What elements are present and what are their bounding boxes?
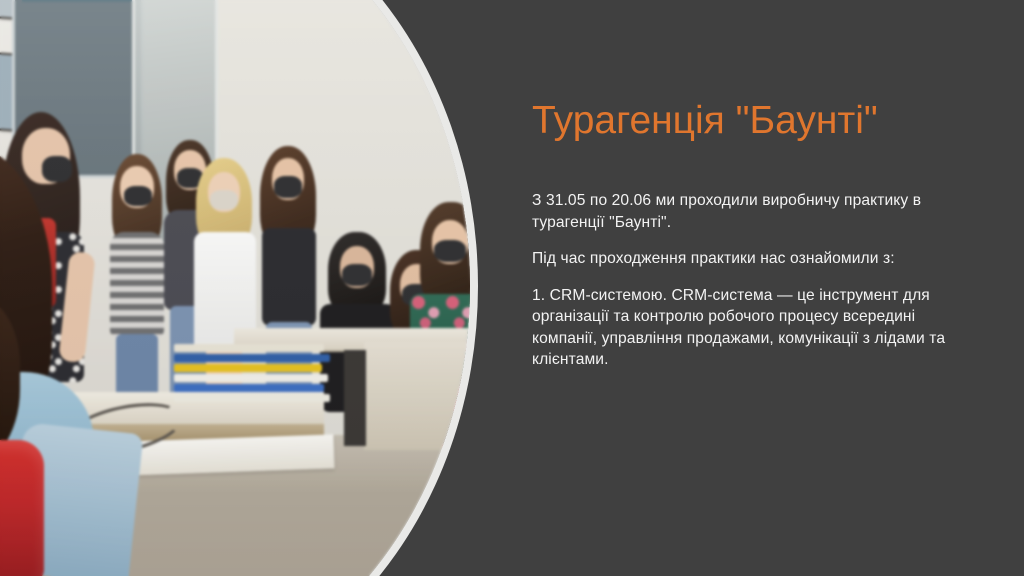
book <box>174 374 328 382</box>
book <box>174 394 330 402</box>
slide-title: Турагенція "Баунті" <box>532 98 878 144</box>
stack-of-books <box>174 344 330 398</box>
photo-scene: REDMI NOTE 9 PRO QUAD CAMERA <box>0 0 470 576</box>
striped-top <box>110 232 164 338</box>
book <box>174 384 324 392</box>
face-mask <box>210 190 238 210</box>
internship-photo: REDMI NOTE 9 PRO QUAD CAMERA <box>0 0 470 576</box>
red-chair <box>0 440 44 576</box>
body-paragraph-3: 1. CRM-системою. CRM-система — це інстру… <box>532 285 968 371</box>
slide-body: З 31.05 по 20.06 ми проходили виробничу … <box>532 190 968 371</box>
face-mask <box>342 264 372 286</box>
foreground-woman <box>0 142 80 472</box>
text-column: Турагенція "Баунті" З 31.05 по 20.06 ми … <box>532 0 984 576</box>
book <box>174 344 324 352</box>
black-top <box>262 228 316 326</box>
face-mask <box>274 176 302 198</box>
book <box>174 354 330 362</box>
book <box>174 364 322 372</box>
face-mask <box>124 186 152 206</box>
far-desk-leg <box>344 350 366 446</box>
body-paragraph-1: З 31.05 по 20.06 ми проходили виробничу … <box>532 190 968 233</box>
door-glass-panel <box>22 0 134 2</box>
person-student <box>108 154 166 424</box>
face-mask <box>434 240 466 262</box>
far-desk-side <box>364 342 470 450</box>
presentation-slide: REDMI NOTE 9 PRO QUAD CAMERA Турагенція … <box>0 0 1024 576</box>
body-paragraph-2: Під час проходження практики нас ознайом… <box>532 248 968 270</box>
photo-ellipse-frame: REDMI NOTE 9 PRO QUAD CAMERA <box>0 0 470 576</box>
